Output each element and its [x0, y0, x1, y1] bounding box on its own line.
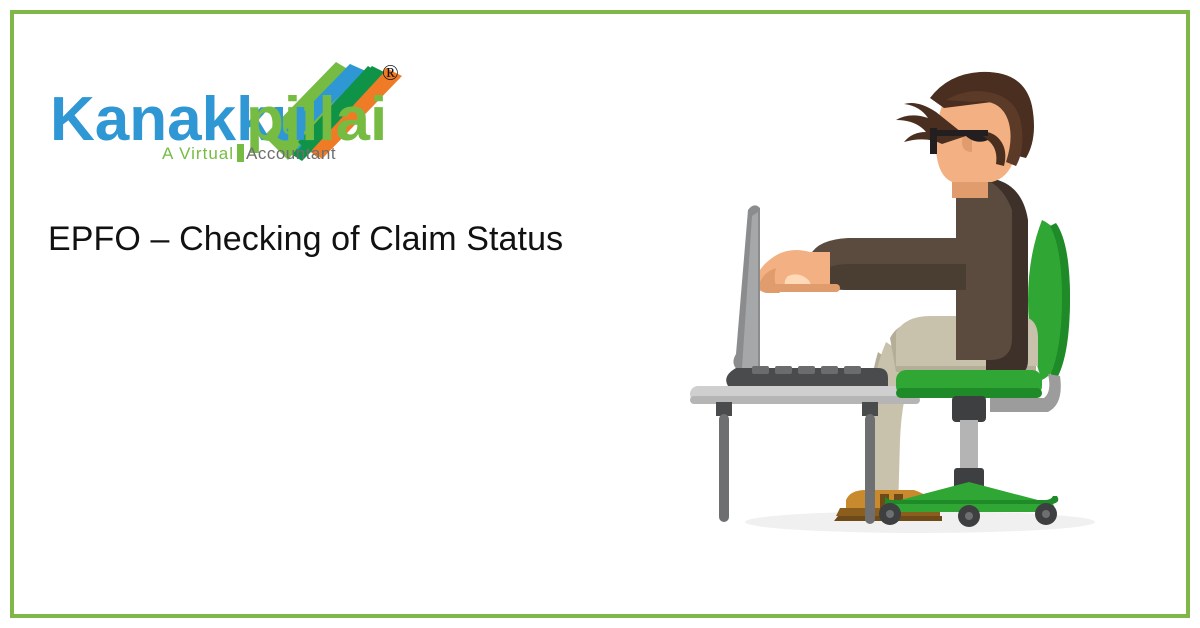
head: [896, 72, 1034, 182]
logo-tagline-suffix: Accountant: [246, 144, 336, 163]
hero-illustration: [690, 70, 1110, 560]
registered-trademark-icon: ®: [382, 62, 399, 85]
page-title: EPFO – Checking of Claim Status: [48, 218, 668, 260]
caster-hub-left: [886, 510, 894, 518]
hand: [756, 250, 840, 293]
person-figure: [756, 72, 1038, 521]
office-chair-front: [879, 370, 1058, 527]
chair-gas-cylinder: [960, 420, 978, 472]
illustration-svg: [690, 70, 1110, 560]
logo-tagline-prefix: A Virtual: [162, 144, 234, 163]
banner-root: ® Kanakku pillai A Virtual Accountant EP…: [0, 0, 1200, 628]
chair-gas-lift-housing: [952, 396, 986, 422]
logo-tagline-bracket-icon: [237, 144, 244, 162]
caster-hub-center: [965, 512, 973, 520]
laptop-keyboard: [752, 366, 861, 374]
laptop: [726, 205, 888, 386]
caster-hub-right: [1042, 510, 1050, 518]
brand-logo[interactable]: ® Kanakku pillai A Virtual Accountant: [50, 62, 410, 167]
logo-svg: ® Kanakku pillai A Virtual Accountant: [50, 62, 410, 167]
